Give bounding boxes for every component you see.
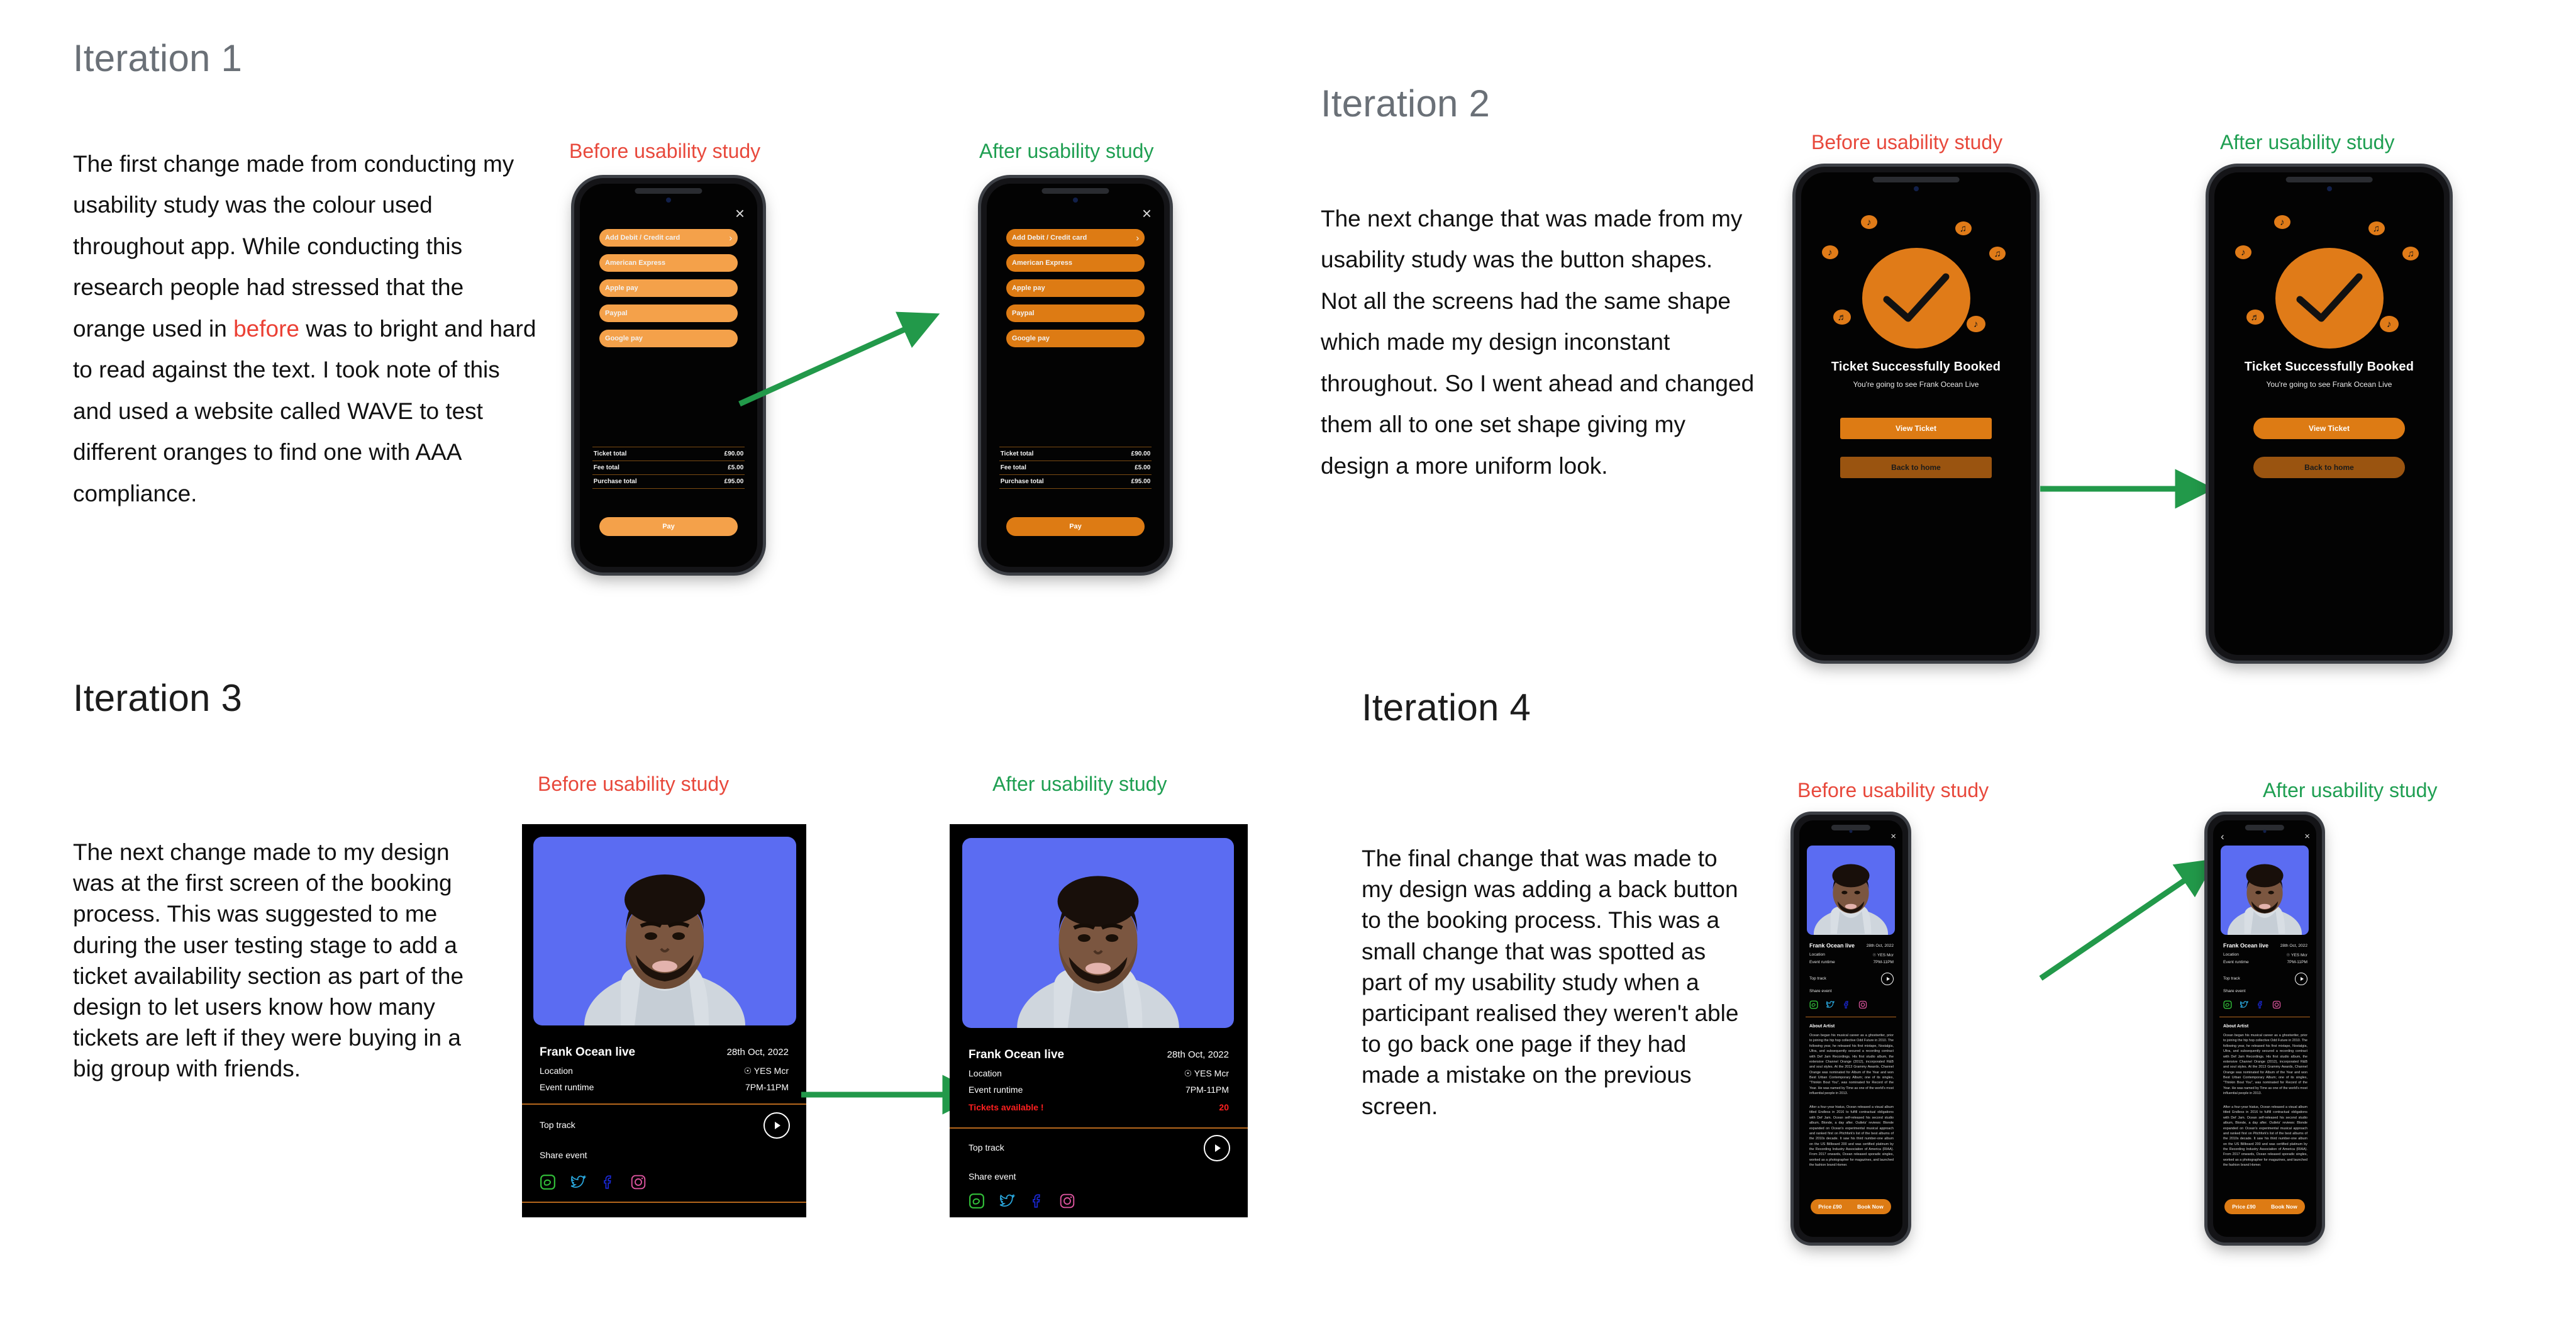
detail-runtime-label-before: Event runtime <box>1809 960 1835 964</box>
back-to-home-button[interactable]: Back to home <box>1840 457 1992 478</box>
detail-social-icons-after <box>2223 1000 2281 1009</box>
detail-location-label-after: Location <box>2223 952 2239 957</box>
detail-location-value-after: ☉ YES Mcr <box>2286 952 2307 958</box>
iteration-1-body-post: was to bright and hard to read against t… <box>73 316 536 506</box>
artist-portrait-icon <box>1014 838 1182 1028</box>
front-camera-dot <box>2263 830 2267 833</box>
runtime-value-before: 7PM-11PM <box>745 1082 789 1092</box>
phone-iteration1-after: × Add Debit / Credit card›American Expre… <box>981 178 1170 572</box>
confirmation-subtitle: You're going to see Frank Ocean Live <box>1801 380 2031 389</box>
total-label: Fee total <box>1001 464 1026 471</box>
social-icons-before <box>540 1174 647 1190</box>
total-value: £90.00 <box>724 450 744 457</box>
divider <box>950 1127 1248 1129</box>
whatsapp-icon[interactable] <box>969 1193 985 1209</box>
back-to-home-button[interactable]: Back to home <box>2253 457 2405 478</box>
total-label: Fee total <box>594 464 619 471</box>
play-button-detail-before[interactable] <box>1881 973 1894 985</box>
phone-screen-payment-before: × Add Debit / Credit card›American Expre… <box>580 184 757 567</box>
whatsapp-icon[interactable] <box>1809 1000 1818 1009</box>
chevron-right-icon: › <box>729 233 732 243</box>
whatsapp-icon[interactable] <box>540 1174 556 1190</box>
artist-portrait-icon <box>2227 846 2302 935</box>
payment-method-2[interactable]: American Express <box>599 254 738 272</box>
facebook-icon[interactable] <box>1842 1000 1851 1009</box>
iteration-2-title: Iteration 2 <box>1321 82 1490 125</box>
view-ticket-button[interactable]: View Ticket <box>1840 418 1992 439</box>
pay-button[interactable]: Pay <box>599 517 738 536</box>
runtime-label-after: Event runtime <box>969 1085 1023 1095</box>
payment-method-label: Add Debit / Credit card <box>605 234 680 242</box>
total-label: Purchase total <box>1001 478 1044 485</box>
facebook-icon[interactable] <box>600 1174 616 1190</box>
phone-iteration4-after: ‹ × Frank Ocean live 28th Oct, 2022 <box>2207 815 2322 1243</box>
payment-method-label: Google pay <box>605 335 643 342</box>
check-icon <box>2295 272 2364 325</box>
front-camera-dot <box>1850 830 1853 833</box>
iteration-2-after-caption: After usability study <box>2220 131 2394 154</box>
detail-top-track-label-before: Top track <box>1809 976 1826 981</box>
phone-notch <box>1872 177 1960 182</box>
event-name-before: Frank Ocean live <box>540 1046 635 1059</box>
instagram-icon[interactable] <box>1059 1193 1075 1209</box>
close-icon[interactable]: × <box>735 205 745 221</box>
arrow-iteration1 <box>735 296 999 415</box>
artist-photo-before <box>533 837 796 1025</box>
twitter-icon[interactable] <box>570 1174 586 1190</box>
music-note-icon: ♬ <box>1833 310 1851 325</box>
total-row: Fee total£5.00 <box>592 461 745 474</box>
phone-screen-confirmation-after: ♪ ♫ ♪ ♫ ♬ ♪ Ticket Successfully Booked Y… <box>2214 172 2444 655</box>
payment-method-label: Google pay <box>1012 335 1050 342</box>
twitter-icon[interactable] <box>1826 1000 1835 1009</box>
confirmation-title: Ticket Successfully Booked <box>1801 360 2031 374</box>
iteration-1-after-caption: After usability study <box>979 140 1153 163</box>
iteration-4-before-caption: Before usability study <box>1797 779 1989 802</box>
price-label-before: Price £90 <box>1818 1204 1841 1210</box>
phone-screen-detail-before: × Frank Ocean live 28th Oct, 2022 Loca <box>1799 820 1902 1237</box>
phone-screen-payment-after: × Add Debit / Credit card›American Expre… <box>987 184 1164 567</box>
success-check-circle <box>1862 248 1970 349</box>
about-artist-heading-after: About Artist <box>2223 1024 2248 1029</box>
play-icon <box>1887 977 1890 981</box>
music-note-icon: ♫ <box>1989 247 2006 260</box>
payment-method-4[interactable]: Paypal <box>599 304 738 322</box>
payment-method-label: Paypal <box>605 310 627 317</box>
detail-event-date-before: 28th Oct, 2022 <box>1867 944 1894 948</box>
instagram-icon[interactable] <box>630 1174 647 1190</box>
detail-top-track-label-after: Top track <box>2223 976 2240 981</box>
divider <box>1806 1017 1896 1017</box>
check-icon <box>1882 272 1951 325</box>
divider <box>2219 1017 2310 1017</box>
artist-portrait-icon <box>1813 846 1889 935</box>
phone-iteration2-before: ♪ ♫ ♪ ♫ ♬ ♪ Ticket Successfully Booked Y… <box>1796 167 2036 661</box>
share-event-label-before: Share event <box>540 1150 587 1160</box>
top-track-label-before: Top track <box>540 1120 575 1130</box>
phone-iteration2-after: ♪ ♫ ♪ ♫ ♬ ♪ Ticket Successfully Booked Y… <box>2209 167 2450 661</box>
instagram-icon[interactable] <box>2272 1000 2281 1009</box>
about-artist-paragraph-1-before: Ocean began his musical career as a ghos… <box>1809 1033 1894 1097</box>
about-artist-heading-before: About Artist <box>1809 1024 1835 1029</box>
total-row: Ticket total£90.00 <box>592 447 745 461</box>
artist-photo-detail-after <box>2221 846 2309 935</box>
iteration-2-body: The next change that was made from my us… <box>1321 198 1755 486</box>
payment-method-4[interactable]: Paypal <box>1006 304 1145 322</box>
front-camera-dot <box>666 198 671 203</box>
phone-screen-detail-after: ‹ × Frank Ocean live 28th Oct, 2022 <box>2213 820 2316 1237</box>
music-note-icon: ♫ <box>2368 221 2385 235</box>
phone-iteration4-before: × Frank Ocean live 28th Oct, 2022 Loca <box>1794 815 1908 1243</box>
pay-button[interactable]: Pay <box>1006 517 1145 536</box>
music-note-icon: ♪ <box>2274 215 2290 229</box>
detail-share-label-before: Share event <box>1809 989 1832 993</box>
close-icon[interactable]: × <box>1890 832 1896 841</box>
twitter-icon[interactable] <box>999 1193 1015 1209</box>
facebook-icon[interactable] <box>2256 1000 2265 1009</box>
iteration-4-after-caption: After usability study <box>2263 779 2437 802</box>
location-value-before: ☉ YES Mcr <box>744 1066 789 1076</box>
phone-notch <box>635 188 702 194</box>
back-icon[interactable]: ‹ <box>2221 830 2224 843</box>
iteration-1-body-pre: The first change made from conducting my… <box>73 151 514 342</box>
detail-event-name-before: Frank Ocean live <box>1809 942 1855 949</box>
payment-method-label: Apple pay <box>605 284 638 292</box>
whatsapp-icon[interactable] <box>2223 1000 2232 1009</box>
detail-runtime-value-before: 7PM-11PM <box>1874 960 1894 964</box>
total-label: Ticket total <box>1001 450 1034 457</box>
facebook-icon[interactable] <box>1029 1193 1045 1209</box>
divider <box>522 1202 806 1203</box>
music-note-icon: ♪ <box>1967 316 1985 332</box>
detail-location-value-before: ☉ YES Mcr <box>1872 952 1894 958</box>
play-icon <box>1215 1144 1221 1152</box>
total-row: Purchase total£95.00 <box>999 474 1152 489</box>
confirmation-title: Ticket Successfully Booked <box>2214 360 2444 374</box>
music-note-icon: ♬ <box>2246 310 2264 325</box>
location-label-before: Location <box>540 1066 573 1076</box>
top-track-label-after: Top track <box>969 1142 1004 1153</box>
tickets-available-label: Tickets available ! <box>969 1102 1044 1112</box>
runtime-value-after: 7PM-11PM <box>1185 1085 1229 1095</box>
detail-runtime-value-after: 7PM-11PM <box>2287 960 2308 964</box>
payment-method-label: American Express <box>605 259 665 267</box>
payment-method-label: Add Debit / Credit card <box>1012 234 1087 242</box>
payment-method-label: Paypal <box>1012 310 1034 317</box>
front-camera-dot <box>1073 198 1078 203</box>
artist-portrait-icon <box>583 837 747 1025</box>
music-note-icon: ♪ <box>2380 316 2399 332</box>
social-icons-after <box>969 1193 1075 1209</box>
play-icon <box>2301 977 2304 981</box>
arrow-iteration2 <box>2038 462 2220 513</box>
about-artist-paragraph-2-before: After a four-year hiatus, Ocean released… <box>1809 1105 1894 1168</box>
book-bar-before[interactable]: Price £90 Book Now <box>1811 1199 1891 1214</box>
total-value: £90.00 <box>1131 450 1151 457</box>
iteration-2-before-caption: Before usability study <box>1811 131 2002 154</box>
detail-event-name-after: Frank Ocean live <box>2223 942 2268 949</box>
location-value-after: ☉ YES Mcr <box>1184 1068 1229 1079</box>
iteration-4-body: The final change that was made to my des… <box>1362 843 1739 1122</box>
total-value: £95.00 <box>724 478 744 485</box>
book-bar-after[interactable]: Price £90 Book Now <box>2224 1199 2305 1214</box>
confirmation-subtitle: You're going to see Frank Ocean Live <box>2214 380 2444 389</box>
share-event-label-after: Share event <box>969 1171 1016 1181</box>
divider <box>522 1103 806 1105</box>
detail-event-date-after: 28th Oct, 2022 <box>2280 944 2307 948</box>
payment-method-5[interactable]: Google pay <box>599 330 738 347</box>
close-icon[interactable]: × <box>1142 205 1152 221</box>
detail-runtime-label-after: Event runtime <box>2223 960 2249 964</box>
about-artist-paragraph-2-after: After a four-year hiatus, Ocean released… <box>2223 1105 2307 1168</box>
instagram-icon[interactable] <box>1858 1000 1867 1009</box>
play-button-after[interactable] <box>1204 1135 1230 1161</box>
iteration-4-title: Iteration 4 <box>1362 686 1531 729</box>
front-camera-dot <box>1914 186 1919 191</box>
event-card-after: Frank Ocean live 28th Oct, 2022 Location… <box>950 824 1248 1217</box>
iteration-3-before-caption: Before usability study <box>538 773 729 796</box>
music-note-icon: ♫ <box>1955 221 1972 235</box>
book-now-label-after: Book Now <box>2271 1204 2297 1210</box>
iteration-3-body: The next change made to my design was at… <box>73 837 475 1085</box>
iteration-1-before-caption: Before usability study <box>569 140 760 163</box>
view-ticket-button[interactable]: View Ticket <box>2253 418 2405 439</box>
artist-photo-after <box>962 838 1234 1028</box>
detail-social-icons-before <box>1809 1000 1867 1009</box>
music-note-icon: ♪ <box>2235 245 2251 259</box>
event-card-before: Frank Ocean live 28th Oct, 2022 Location… <box>522 824 806 1217</box>
runtime-label-before: Event runtime <box>540 1082 594 1092</box>
iteration-3-title: Iteration 3 <box>73 676 242 720</box>
iteration-3-after-caption: After usability study <box>992 773 1167 796</box>
close-icon[interactable]: × <box>2304 832 2310 841</box>
location-label-after: Location <box>969 1068 1002 1078</box>
about-artist-paragraph-1-after: Ocean began his musical career as a ghos… <box>2223 1033 2307 1097</box>
music-note-icon: ♫ <box>2402 247 2419 260</box>
total-value: £95.00 <box>1131 478 1151 485</box>
payment-method-2[interactable]: American Express <box>1006 254 1145 272</box>
total-label: Purchase total <box>594 478 637 485</box>
phone-notch <box>2285 177 2373 182</box>
front-camera-dot <box>2327 186 2332 191</box>
book-now-label-before: Book Now <box>1857 1204 1884 1210</box>
total-value: £5.00 <box>1135 464 1150 471</box>
price-label-after: Price £90 <box>2232 1204 2255 1210</box>
success-check-circle <box>2275 248 2384 349</box>
phone-notch <box>1041 188 1109 194</box>
music-note-icon: ♪ <box>1861 215 1877 229</box>
payment-method-3[interactable]: Apple pay <box>599 279 738 297</box>
event-name-after: Frank Ocean live <box>969 1048 1064 1062</box>
usability-iterations-board: Iteration 1 The first change made from c… <box>0 0 2576 1318</box>
total-label: Ticket total <box>594 450 627 457</box>
phone-screen-confirmation-before: ♪ ♫ ♪ ♫ ♬ ♪ Ticket Successfully Booked Y… <box>1801 172 2031 655</box>
iteration-1-body-highlight: before <box>233 316 299 342</box>
chevron-right-icon: › <box>1136 233 1139 243</box>
event-date-after: 28th Oct, 2022 <box>1167 1049 1229 1060</box>
payment-method-label: Apple pay <box>1012 284 1045 292</box>
artist-photo-detail-before <box>1807 846 1895 935</box>
payment-method-1[interactable]: Add Debit / Credit card› <box>599 229 738 247</box>
music-note-icon: ♪ <box>1822 245 1838 259</box>
play-icon <box>775 1122 780 1129</box>
tickets-available-value: 20 <box>1219 1102 1229 1112</box>
detail-location-label-before: Location <box>1809 952 1825 957</box>
payment-method-1[interactable]: Add Debit / Credit card› <box>1006 229 1145 247</box>
detail-share-label-after: Share event <box>2223 989 2246 993</box>
payment-method-label: American Express <box>1012 259 1072 267</box>
total-row: Purchase total£95.00 <box>592 474 745 489</box>
event-date-before: 28th Oct, 2022 <box>727 1047 789 1058</box>
total-value: £5.00 <box>728 464 743 471</box>
order-totals-after: Ticket total£90.00Fee total£5.00Purchase… <box>999 447 1152 489</box>
iteration-1-title: Iteration 1 <box>73 36 242 80</box>
play-button-before[interactable] <box>763 1112 790 1139</box>
order-totals-before: Ticket total£90.00Fee total£5.00Purchase… <box>592 447 745 489</box>
total-row: Ticket total£90.00 <box>999 447 1152 461</box>
total-row: Fee total£5.00 <box>999 461 1152 474</box>
play-button-detail-after[interactable] <box>2295 973 2307 985</box>
payment-method-5[interactable]: Google pay <box>1006 330 1145 347</box>
payment-method-3[interactable]: Apple pay <box>1006 279 1145 297</box>
iteration-1-body: The first change made from conducting my… <box>73 143 538 514</box>
twitter-icon[interactable] <box>2240 1000 2248 1009</box>
